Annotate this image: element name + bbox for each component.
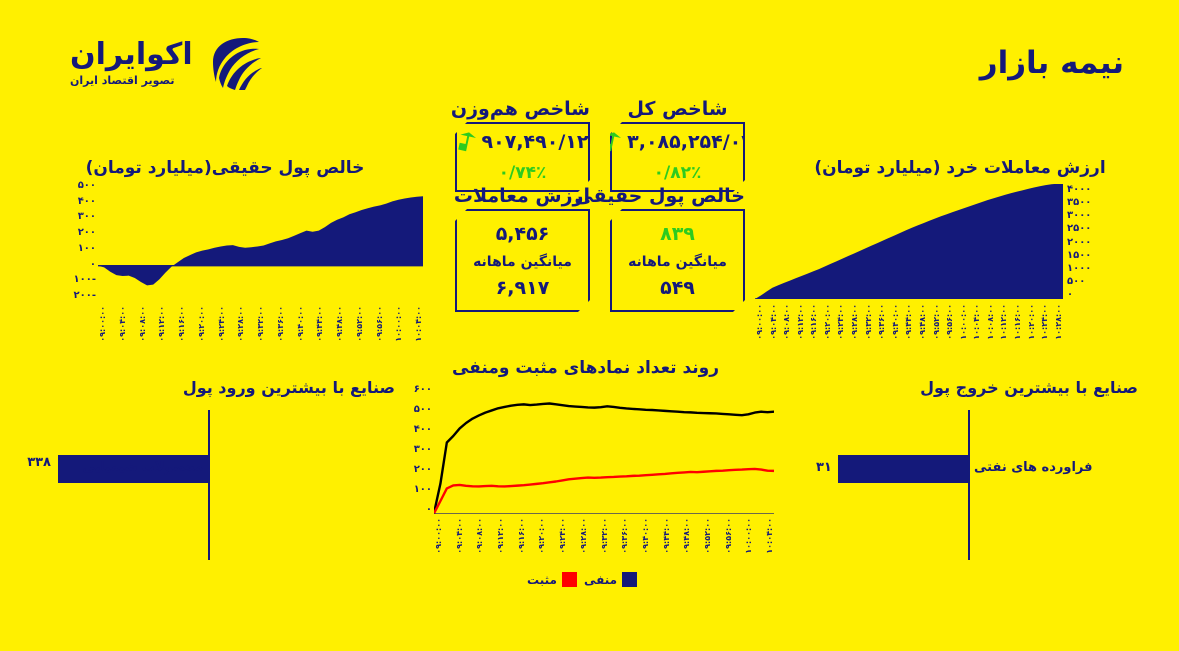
bar-baseline	[208, 410, 210, 560]
bar-value: ۳۳۸	[27, 455, 51, 470]
y-axis-tick: ۲۵۰۰	[1067, 223, 1091, 234]
x-axis-tick: ۰۹:۰۴:۰۰	[118, 306, 127, 342]
chart-title: خالص پول حقیقی(میلیارد تومان)	[60, 158, 390, 178]
legend-item-negative[interactable]: منفی	[584, 572, 637, 587]
kpi-title: شاخص هم‌وزن	[455, 98, 590, 120]
kpi-card[interactable]: ۸۳۹ میانگین ماهانه ۵۴۹	[610, 209, 745, 312]
x-axis-tick: ۰۹:۱۶:۰۰	[177, 306, 186, 342]
legend-label: مثبت	[527, 573, 557, 587]
x-axis-tick: ۱۰:۲۴:۰۰	[1040, 304, 1049, 340]
arrow-up-icon	[602, 132, 621, 153]
x-axis-tick: ۰۹:۲۴:۰۰	[558, 518, 567, 554]
bar-category-label: محصولات شیمیایی	[82, 460, 203, 475]
line-plot	[434, 384, 774, 514]
x-axis-tick: ۰۹:۴۰:۰۰	[891, 304, 900, 340]
legend-item-positive[interactable]: مثبت	[527, 572, 577, 587]
brand-logo: اکوایران تصویر اقتصاد ایران	[70, 32, 265, 94]
bar-category-label: فراورده های نفتی	[974, 460, 1093, 475]
kpi-sub-value: ۵۴۹	[660, 277, 695, 299]
y-axis-tick: ۶۰۰	[414, 384, 432, 395]
bar-rect[interactable]	[838, 455, 968, 483]
x-axis-tick: ۰۹:۰۰:۰۰	[434, 518, 443, 554]
y-axis-tick: ۰	[426, 504, 432, 515]
kpi-value: ۵,۴۵۶	[496, 223, 550, 245]
arrow-up-icon	[457, 132, 476, 153]
x-axis-tick: ۱۰:۰۴:۰۰	[765, 518, 774, 554]
y-axis-labels: ۶۰۰۵۰۰۴۰۰۳۰۰۲۰۰۱۰۰۰	[398, 384, 432, 514]
y-axis-tick: ۱۰۰	[78, 243, 96, 254]
y-axis-tick: ۱۰۰	[414, 484, 432, 495]
chart-title: ارزش معاملات خرد (میلیارد تومان)	[795, 158, 1125, 178]
y-axis-tick: ۰	[1067, 289, 1073, 300]
x-axis-tick: ۰۹:۰۸:۰۰	[138, 306, 147, 342]
x-axis-tick: ۰۹:۰۴:۰۰	[769, 304, 778, 340]
legend-swatch-negative	[622, 572, 637, 587]
y-axis-tick: ۴۰۰	[414, 424, 432, 435]
x-axis-labels: ۰۹:۰۰:۰۰۰۹:۰۴:۰۰۰۹:۰۸:۰۰۰۹:۱۲:۰۰۰۹:۱۶:۰۰…	[755, 304, 1063, 340]
y-axis-tick: ۱۰۰۰	[1067, 263, 1091, 274]
x-axis-tick: ۰۹:۲۰:۰۰	[537, 518, 546, 554]
x-axis-labels: ۰۹:۰۰:۰۰۰۹:۰۴:۰۰۰۹:۰۸:۰۰۰۹:۱۲:۰۰۰۹:۱۶:۰۰…	[434, 518, 774, 554]
y-axis-tick: ۵۰۰	[1067, 276, 1085, 287]
kpi-real-money-net: خالص پول حقیقی ۸۳۹ میانگین ماهانه ۵۴۹	[610, 185, 745, 312]
x-axis-tick: ۱۰:۱۶:۰۰	[1013, 304, 1022, 340]
x-axis-tick: ۰۹:۳۲:۰۰	[600, 518, 609, 554]
x-axis-tick: ۰۹:۰۸:۰۰	[475, 518, 484, 554]
y-axis-tick: ۰	[90, 259, 96, 270]
x-axis-tick: ۰۹:۴۸:۰۰	[335, 306, 344, 342]
chart-title: روند تعداد نمادهای مثبت ومنفی	[398, 358, 773, 378]
page-title: نیمه بازار	[980, 45, 1124, 81]
y-axis-tick: ۱۵۰۰	[1067, 250, 1091, 261]
x-axis-tick: ۱۰:۰۴:۰۰	[972, 304, 981, 340]
logo-tagline: تصویر اقتصاد ایران	[70, 75, 174, 86]
area-plot	[98, 180, 423, 300]
x-axis-tick: ۱۰:۰۰:۰۰	[394, 306, 403, 342]
x-axis-labels: ۰۹:۰۰:۰۰۰۹:۰۴:۰۰۰۹:۰۸:۰۰۰۹:۱۲:۰۰۰۹:۱۶:۰۰…	[98, 306, 423, 342]
x-axis-tick: ۱۰:۱۲:۰۰	[999, 304, 1008, 340]
y-axis-tick: ۵۰۰	[414, 404, 432, 415]
x-axis-tick: ۱۰:۲۸:۰۰	[1054, 304, 1063, 340]
y-axis-tick: ۳۰۰۰	[1067, 210, 1091, 221]
x-axis-tick: ۱۰:۲۰:۰۰	[1027, 304, 1036, 340]
x-axis-tick: ۰۹:۳۲:۰۰	[256, 306, 265, 342]
x-axis-tick: ۰۹:۵۲:۰۰	[932, 304, 941, 340]
y-axis-tick: ۲۰۰	[78, 227, 96, 238]
x-axis-tick: ۰۹:۲۸:۰۰	[236, 306, 245, 342]
x-axis-tick: ۰۹:۰۸:۰۰	[782, 304, 791, 340]
kpi-change: ۰/۸۲٪	[654, 163, 702, 183]
chart-symbols-trend: روند تعداد نمادهای مثبت ومنفی ۶۰۰۵۰۰۴۰۰۳…	[398, 358, 783, 568]
kpi-sub-value: ۶,۹۱۷	[496, 277, 550, 299]
x-axis-tick: ۰۹:۴۰:۰۰	[296, 306, 305, 342]
y-axis-tick: -۱۰۰	[74, 274, 96, 285]
x-axis-tick: ۰۹:۴۸:۰۰	[682, 518, 691, 554]
kpi-card[interactable]: ۹۰۷,۴۹۰/۱۲ ۰/۷۴٪	[455, 122, 590, 192]
x-axis-tick: ۰۹:۲۴:۰۰	[217, 306, 226, 342]
x-axis-tick: ۱۰:۰۸:۰۰	[986, 304, 995, 340]
y-axis-tick: ۲۰۰	[414, 464, 432, 475]
x-axis-tick: ۰۹:۱۶:۰۰	[809, 304, 818, 340]
x-axis-tick: ۰۹:۰۰:۰۰	[755, 304, 764, 340]
x-axis-tick: ۰۹:۴۴:۰۰	[904, 304, 913, 340]
x-axis-tick: ۰۹:۳۲:۰۰	[864, 304, 873, 340]
x-axis-tick: ۰۹:۱۲:۰۰	[796, 304, 805, 340]
x-axis-tick: ۰۹:۵۶:۰۰	[375, 306, 384, 342]
x-axis-tick: ۰۹:۴۴:۰۰	[662, 518, 671, 554]
kpi-sub-label: میانگین ماهانه	[473, 254, 572, 270]
kpi-title: شاخص کل	[610, 98, 745, 120]
y-axis-tick: ۲۰۰۰	[1067, 237, 1091, 248]
kpi-change: ۰/۷۴٪	[499, 163, 547, 183]
bar-chart-money-inflow: صنایع با بیشترین ورود پول ۳۳۸ محصولات شی…	[95, 378, 395, 568]
kpi-value: ۹۰۷,۴۹۰/۱۲	[482, 131, 589, 153]
x-axis-tick: ۱۰:۰۰:۰۰	[959, 304, 968, 340]
x-axis-tick: ۰۹:۳۶:۰۰	[877, 304, 886, 340]
kpi-equal-weight-index: شاخص هم‌وزن ۹۰۷,۴۹۰/۱۲ ۰/۷۴٪	[455, 98, 590, 192]
x-axis-tick: ۱۰:۰۰:۰۰	[744, 518, 753, 554]
x-axis-tick: ۰۹:۵۶:۰۰	[945, 304, 954, 340]
eco-iran-globe-logo-icon	[203, 32, 265, 94]
kpi-title: خالص پول حقیقی	[610, 185, 745, 207]
x-axis-tick: ۰۹:۲۰:۰۰	[823, 304, 832, 340]
bar-chart-title: صنایع با بیشترین خروج پول	[838, 378, 1138, 397]
y-axis-labels: ۴۰۰۰۳۵۰۰۳۰۰۰۲۵۰۰۲۰۰۰۱۵۰۰۱۰۰۰۵۰۰۰	[1067, 184, 1117, 299]
y-axis-tick: ۳۰۰	[414, 444, 432, 455]
chart-real-money: خالص پول حقیقی(میلیارد تومان) ۵۰۰۴۰۰۳۰۰۲…	[60, 158, 425, 348]
y-axis-tick: ۴۰۰	[78, 196, 96, 207]
bar-baseline	[968, 410, 970, 560]
bar-value: ۳۱	[816, 460, 832, 475]
x-axis-tick: ۰۹:۰۰:۰۰	[98, 306, 107, 342]
bar-chart-money-outflow: صنایع با بیشترین خروج پول ۳۱ فراورده های…	[838, 378, 1138, 568]
x-axis-tick: ۰۹:۵۲:۰۰	[355, 306, 364, 342]
x-axis-tick: ۰۹:۴۰:۰۰	[641, 518, 650, 554]
kpi-value: ۳,۰۸۵,۲۵۴/۰۳	[627, 131, 753, 153]
y-axis-tick: ۵۰۰	[78, 180, 96, 191]
x-axis-tick: ۰۹:۵۲:۰۰	[703, 518, 712, 554]
kpi-value: ۸۳۹	[660, 223, 695, 245]
x-axis-tick: ۰۹:۱۲:۰۰	[157, 306, 166, 342]
x-axis-tick: ۰۹:۳۶:۰۰	[620, 518, 629, 554]
y-axis-tick: ۳۰۰	[78, 211, 96, 222]
logo-name: اکوایران	[70, 40, 193, 70]
legend-label: منفی	[584, 573, 617, 587]
bar-chart-title: صنایع با بیشترین ورود پول	[95, 378, 395, 397]
legend-swatch-positive	[562, 572, 577, 587]
y-axis-tick: ۳۵۰۰	[1067, 197, 1091, 208]
x-axis-tick: ۰۹:۱۶:۰۰	[517, 518, 526, 554]
x-axis-tick: ۰۹:۳۶:۰۰	[276, 306, 285, 342]
area-plot	[755, 184, 1063, 299]
chart-legend: منفی مثبت	[527, 572, 637, 587]
x-axis-tick: ۰۹:۲۴:۰۰	[836, 304, 845, 340]
y-axis-labels: ۵۰۰۴۰۰۳۰۰۲۰۰۱۰۰۰-۱۰۰-۲۰۰	[60, 180, 96, 300]
page-header: اکوایران تصویر اقتصاد ایران نیمه بازار	[0, 0, 1179, 110]
y-axis-tick: ۴۰۰۰	[1067, 184, 1091, 195]
x-axis-tick: ۰۹:۲۰:۰۰	[197, 306, 206, 342]
x-axis-tick: ۰۹:۰۴:۰۰	[455, 518, 464, 554]
x-axis-tick: ۰۹:۲۸:۰۰	[579, 518, 588, 554]
kpi-trade-value: ارزش معاملات ۵,۴۵۶ میانگین ماهانه ۶,۹۱۷	[455, 185, 590, 312]
kpi-title: ارزش معاملات	[455, 185, 590, 207]
x-axis-tick: ۰۹:۲۸:۰۰	[850, 304, 859, 340]
kpi-total-index: شاخص کل ۳,۰۸۵,۲۵۴/۰۳ ۰/۸۲٪	[610, 98, 745, 192]
kpi-card[interactable]: ۵,۴۵۶ میانگین ماهانه ۶,۹۱۷	[455, 209, 590, 312]
x-axis-tick: ۱۰:۰۴:۰۰	[414, 306, 423, 342]
x-axis-tick: ۰۹:۱۲:۰۰	[496, 518, 505, 554]
kpi-sub-label: میانگین ماهانه	[628, 254, 727, 270]
x-axis-tick: ۰۹:۴۸:۰۰	[918, 304, 927, 340]
kpi-card[interactable]: ۳,۰۸۵,۲۵۴/۰۳ ۰/۸۲٪	[610, 122, 745, 192]
chart-trade-value: ارزش معاملات خرد (میلیارد تومان) ۴۰۰۰۳۵۰…	[755, 158, 1125, 358]
x-axis-tick: ۰۹:۴۴:۰۰	[315, 306, 324, 342]
y-axis-tick: -۲۰۰	[74, 290, 96, 301]
x-axis-tick: ۰۹:۵۶:۰۰	[724, 518, 733, 554]
